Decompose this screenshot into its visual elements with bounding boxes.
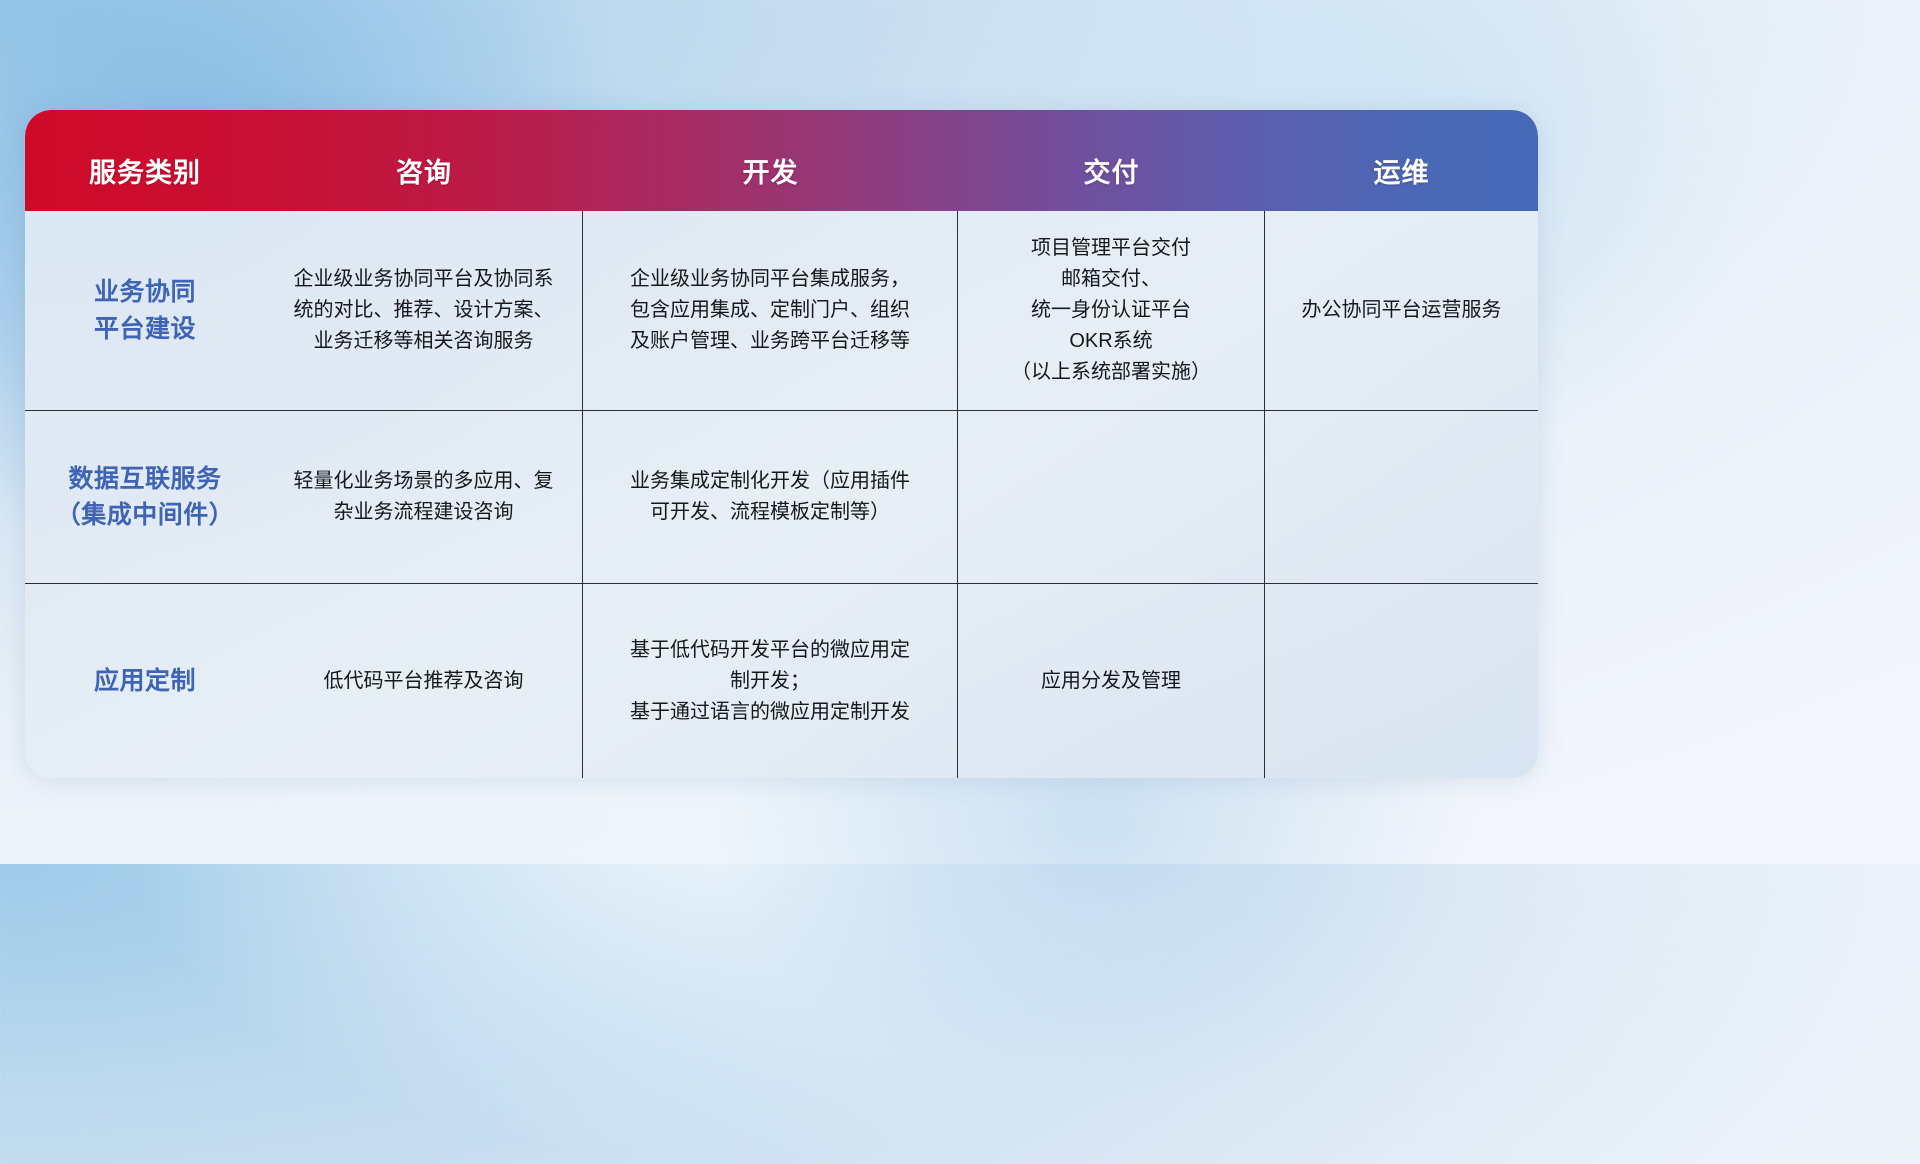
cell-development: 基于低代码开发平台的微应用定 制开发； 基于通过语言的微应用定制开发 — [583, 584, 958, 778]
cell-development: 企业级业务协同平台集成服务， 包含应用集成、定制门户、组织 及账户管理、业务跨平… — [583, 211, 958, 410]
table-row: 数据互联服务 （集成中间件） 轻量化业务场景的多应用、复 杂业务流程建设咨询 业… — [25, 411, 1538, 584]
cell-operations: 办公协同平台运营服务 — [1265, 211, 1538, 410]
table-header-row: 服务类别 咨询 开发 交付 运维 — [25, 110, 1538, 211]
column-header-delivery: 交付 — [958, 160, 1265, 211]
service-matrix-table: 服务类别 咨询 开发 交付 运维 业务协同 平台建设 企业级业务协同平台及协同系… — [25, 110, 1538, 778]
cell-consulting: 企业级业务协同平台及协同系 统的对比、推荐、设计方案、 业务迁移等相关咨询服务 — [265, 211, 583, 410]
table-row: 业务协同 平台建设 企业级业务协同平台及协同系 统的对比、推荐、设计方案、 业务… — [25, 211, 1538, 411]
cell-operations — [1265, 411, 1538, 583]
column-header-operations: 运维 — [1265, 160, 1538, 211]
table-body: 业务协同 平台建设 企业级业务协同平台及协同系 统的对比、推荐、设计方案、 业务… — [25, 211, 1538, 778]
cell-operations — [1265, 584, 1538, 778]
cell-delivery: 项目管理平台交付 邮箱交付、 统一身份认证平台 OKR系统 （以上系统部署实施） — [958, 211, 1265, 410]
row-category-label: 应用定制 — [25, 584, 265, 778]
cell-consulting: 低代码平台推荐及咨询 — [265, 584, 583, 778]
row-category-label: 数据互联服务 （集成中间件） — [25, 411, 265, 583]
cell-delivery — [958, 411, 1265, 583]
column-header-consulting: 咨询 — [265, 160, 583, 211]
table-row: 应用定制 低代码平台推荐及咨询 基于低代码开发平台的微应用定 制开发； 基于通过… — [25, 584, 1538, 778]
slide-canvas: 服务类别 咨询 开发 交付 运维 业务协同 平台建设 企业级业务协同平台及协同系… — [0, 0, 1536, 864]
cell-development: 业务集成定制化开发（应用插件 可开发、流程模板定制等） — [583, 411, 958, 583]
cell-delivery: 应用分发及管理 — [958, 584, 1265, 778]
column-header-development: 开发 — [583, 160, 958, 211]
cell-consulting: 轻量化业务场景的多应用、复 杂业务流程建设咨询 — [265, 411, 583, 583]
column-header-category: 服务类别 — [25, 160, 265, 211]
row-category-label: 业务协同 平台建设 — [25, 211, 265, 410]
